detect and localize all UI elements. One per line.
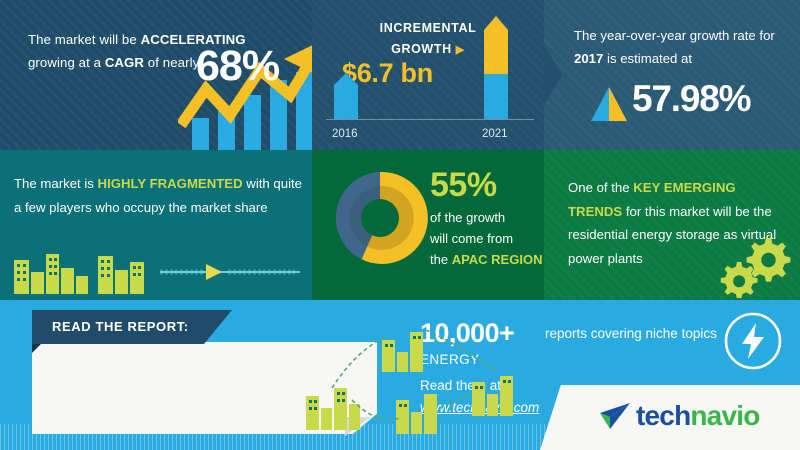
apac-line1: of the growth (430, 210, 505, 225)
cityscape-fragmentation-icon (0, 232, 312, 300)
fragmentation-text-prefix: The market is (14, 176, 98, 191)
report-count-value: 10,000+ (420, 318, 514, 349)
report-card[interactable] (32, 342, 377, 434)
report-count-label: reports covering niche topics (545, 326, 717, 341)
middle-row: The market is HIGHLY FRAGMENTED with qui… (0, 150, 800, 300)
yoy-text-suffix: is estimated at (603, 51, 692, 66)
read-the-report-label: READ THE REPORT: (52, 319, 189, 334)
chart-axis-line (326, 119, 534, 120)
cagr-stat-value: 68% (196, 42, 279, 91)
incremental-title-line2: GROWTH (391, 42, 452, 56)
trends-text-prefix: One of the (568, 180, 633, 195)
website-url-link[interactable]: www.technavio.com (420, 400, 539, 415)
sector-label: ENERGY (420, 352, 479, 367)
report-card-fold (345, 417, 371, 436)
donut-chart-icon (330, 168, 430, 268)
caret-right-icon: ▶ (456, 44, 465, 56)
apac-stat-value: 55% (430, 166, 497, 205)
panel-cagr: The market will be ACCELERATING growing … (0, 0, 312, 150)
yoy-keyword-year: 2017 (574, 51, 603, 66)
technavio-wordmark: technavio (636, 400, 760, 432)
apac-line3-prefix: the (430, 252, 452, 267)
bottom-row: READ THE REPORT: GLOBAL RESIDENTIAL SOLA… (0, 300, 800, 450)
tab-fold-shadow (32, 344, 41, 353)
lightning-bolt-icon (722, 310, 784, 372)
fragmentation-statement: The market is HIGHLY FRAGMENTED with qui… (14, 172, 310, 220)
logo-text-navio: navio (690, 400, 759, 431)
panel-divider-arrow (544, 45, 562, 105)
logo-text-tech: tech (636, 400, 690, 431)
bar-2016 (334, 73, 358, 119)
triangle-growth-icon (590, 86, 628, 122)
infographic-canvas: The market will be ACCELERATING growing … (0, 0, 800, 450)
cagr-text-mid: growing at a (28, 55, 105, 70)
panel-fragmentation: The market is HIGHLY FRAGMENTED with qui… (0, 150, 312, 300)
stripe-texture (544, 0, 800, 150)
cagr-text-prefix: The market will be (28, 32, 141, 47)
yoy-statement: The year-over-year growth rate for 2017 … (574, 24, 788, 70)
yoy-text-prefix: The year-over-year growth rate for (574, 28, 775, 43)
axis-label-2021: 2021 (482, 128, 508, 140)
technavio-arrow-logo-icon (598, 401, 632, 431)
bar-2021 (484, 16, 508, 119)
technavio-logo[interactable]: technavio (598, 400, 760, 432)
read-them-at-label: Read them at: (420, 378, 505, 393)
cagr-keyword-cagr: CAGR (105, 55, 144, 70)
apac-region-keyword: APAC REGION (452, 252, 543, 267)
top-row: The market will be ACCELERATING growing … (0, 0, 800, 150)
apac-line2: will come from (430, 231, 513, 246)
panel-apac-share: 55% of the growth will come from the APA… (312, 150, 544, 300)
axis-label-2016: 2016 (332, 128, 358, 140)
fragmentation-keyword: HIGHLY FRAGMENTED (98, 176, 243, 191)
panel-yoy-growth: The year-over-year growth rate for 2017 … (544, 0, 800, 150)
panel-incremental-growth: INCREMENTAL GROWTH ▶ $6.7 bn 2016 2021 (312, 0, 544, 150)
read-the-report-tab: READ THE REPORT: (32, 310, 232, 344)
incremental-title-line1: INCREMENTAL (380, 21, 477, 35)
panel-key-trends: One of the KEY EMERGING TRENDS for this … (544, 150, 800, 300)
gears-icon (720, 236, 792, 298)
yoy-stat-value: 57.98% (632, 78, 750, 120)
apac-statement: of the growth will come from the APAC RE… (430, 208, 544, 270)
